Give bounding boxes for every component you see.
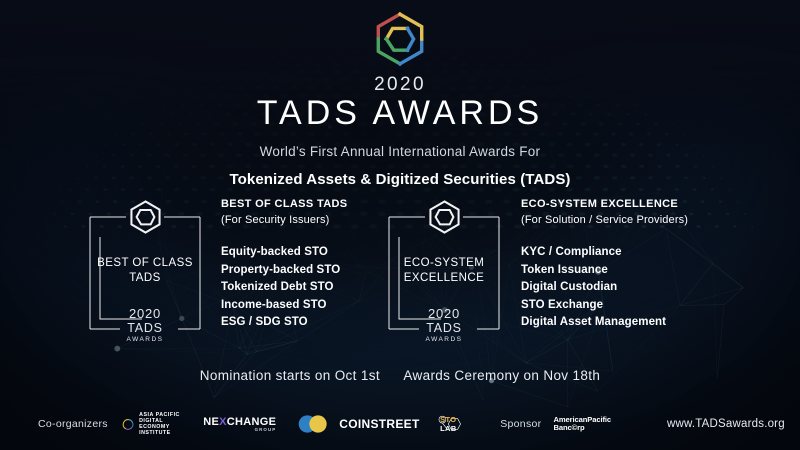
sto-lab-text-b: LAB: [440, 424, 457, 433]
page-title: TADS AWARDS: [0, 94, 800, 132]
badge-foot-year: 2020: [86, 307, 204, 321]
badge-foot-name: TADS: [86, 321, 204, 335]
sponsor-label: Sponsor: [500, 418, 541, 430]
footer: Co-organizers ASIA PACIFIC DIGITAL ECONO…: [0, 398, 800, 450]
list-item: Property-backed STO: [221, 262, 401, 279]
badge-title-line-1: ECO-SYSTEM: [385, 256, 503, 271]
badge-title-line-1: BEST OF CLASS: [86, 256, 204, 271]
website-url[interactable]: www.TADSawards.org: [667, 418, 785, 430]
co-organizers-label: Co-organizers: [38, 418, 108, 430]
masthead: 2020 TADS AWARDS World’s First Annual In…: [0, 8, 800, 188]
award-column-eco-system: ECO-SYSTEM EXCELLENCE 2020 TADS AWARDS E…: [385, 197, 503, 349]
badge-foot-year: 2020: [385, 307, 503, 321]
list-item: Digital Custodian: [521, 279, 731, 296]
nexchange-subtext: GROUP: [255, 427, 277, 432]
list-item: KYC / Compliance: [521, 244, 731, 261]
award-badge: BEST OF CLASS TADS 2020 TADS AWARDS: [86, 197, 204, 349]
list-item: Equity-backed STO: [221, 244, 401, 261]
tads-hexagon-logo-icon: [369, 8, 431, 70]
badge-title-line-2: EXCELLENCE: [385, 271, 503, 286]
category-heading: BEST OF CLASS TADS: [221, 197, 401, 213]
list-item: Income-based STO: [221, 297, 401, 314]
tads-hexagon-outline-icon: [426, 197, 463, 237]
category-subheading: (For Security Issuers): [221, 213, 401, 229]
badge-title: BEST OF CLASS TADS: [86, 256, 204, 286]
badge-title: ECO-SYSTEM EXCELLENCE: [385, 256, 503, 286]
nomination-date: Nomination starts on Oct 1st: [200, 368, 380, 383]
nexchange-text-a: NE: [203, 416, 219, 428]
category-subheading: (For Solution / Service Providers): [521, 213, 731, 229]
masthead-subject: Tokenized Assets & Digitized Securities …: [0, 171, 800, 188]
apb-line-2: Banc©rp: [553, 424, 611, 433]
category-list-best-of-class: BEST OF CLASS TADS (For Security Issuers…: [221, 197, 401, 332]
apdei-line-2: DIGITAL ECONOMY INSTITUTE: [139, 418, 183, 437]
badge-foot-name: TADS: [385, 321, 503, 335]
apdei-ring-icon: [122, 412, 134, 437]
tads-hexagon-outline-icon: [127, 197, 164, 237]
partner-logo-asia-pacific-digital-economy-institute[interactable]: ASIA PACIFIC DIGITAL ECONOMY INSTITUTE: [122, 412, 183, 437]
list-item: ESG / SDG STO: [221, 314, 401, 331]
ceremony-date: Awards Ceremony on Nov 18th: [403, 368, 600, 383]
partner-logo-sto-lab[interactable]: STO LAB: [438, 411, 467, 437]
partner-logo-coinstreet[interactable]: COINSTREET: [294, 413, 419, 435]
sponsor-logo-american-pacific-bancorp[interactable]: AmericanPacific Banc©rp: [553, 416, 611, 433]
masthead-year: 2020: [0, 74, 800, 96]
category-list-eco-system: ECO-SYSTEM EXCELLENCE (For Solution / Se…: [521, 197, 731, 332]
category-heading: ECO-SYSTEM EXCELLENCE: [521, 197, 731, 213]
badge-footer: 2020 TADS AWARDS: [385, 307, 503, 343]
list-item: STO Exchange: [521, 297, 731, 314]
award-column-best-of-class: BEST OF CLASS TADS 2020 TADS AWARDS BEST…: [86, 197, 204, 349]
apdei-line-1: ASIA PACIFIC: [139, 412, 183, 418]
list-item: Tokenized Debt STO: [221, 279, 401, 296]
badge-foot-awards: AWARDS: [86, 336, 204, 343]
badge-title-line-2: TADS: [86, 271, 204, 286]
masthead-tagline: World’s First Annual International Award…: [0, 144, 800, 159]
list-item: Digital Asset Management: [521, 314, 731, 331]
list-item: Token Issuance: [521, 262, 731, 279]
nexchange-text-x: X: [219, 416, 227, 428]
key-dates: Nomination starts on Oct 1st Awards Cere…: [0, 368, 800, 383]
badge-footer: 2020 TADS AWARDS: [86, 307, 204, 343]
sto-lab-text-a: STO: [440, 415, 456, 424]
coinstreet-text: COINSTREET: [339, 417, 419, 431]
coinstreet-circles-icon: [294, 413, 334, 435]
badge-foot-awards: AWARDS: [385, 336, 503, 343]
partner-logo-nexchange-group[interactable]: NEXCHANGE GROUP: [203, 416, 276, 432]
award-badge: ECO-SYSTEM EXCELLENCE 2020 TADS AWARDS: [385, 197, 503, 349]
